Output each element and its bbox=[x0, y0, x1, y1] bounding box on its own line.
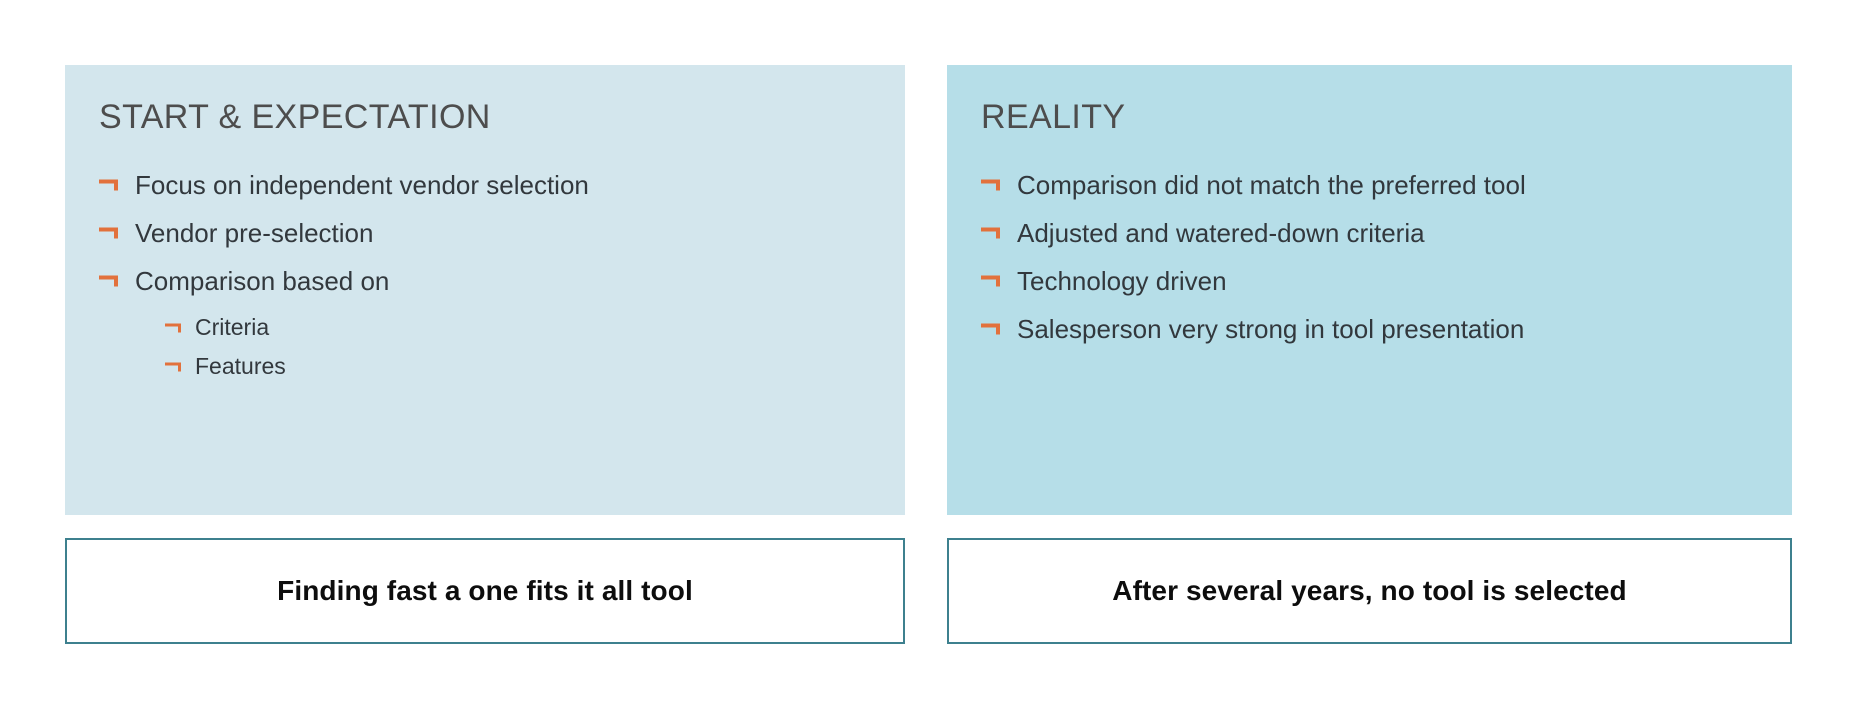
bullet-text: Technology driven bbox=[1017, 266, 1227, 296]
bullet-text: Comparison did not match the preferred t… bbox=[1017, 170, 1526, 200]
panel-title-reality: REALITY bbox=[981, 99, 1758, 136]
sub-bullet-text: Features bbox=[195, 353, 286, 379]
sub-bullet-text: Criteria bbox=[195, 314, 269, 340]
column-start-expectation: START & EXPECTATION Focus on independent… bbox=[65, 0, 905, 714]
negation-bullet-icon bbox=[981, 324, 1000, 335]
bullet-item: Vendor pre-selection bbox=[99, 220, 871, 246]
sub-bullet-item: Criteria bbox=[165, 316, 871, 339]
bullet-list-reality: Comparison did not match the preferred t… bbox=[981, 172, 1758, 342]
bullet-text: Vendor pre-selection bbox=[135, 218, 373, 248]
panel-reality: REALITY Comparison did not match the pre… bbox=[947, 65, 1792, 515]
negation-bullet-icon bbox=[165, 362, 181, 371]
bullet-text: Comparison based on bbox=[135, 266, 389, 296]
bullet-item: Comparison based on bbox=[99, 268, 871, 294]
outcome-text: After several years, no tool is selected bbox=[1112, 575, 1626, 607]
outcome-box-start-expectation: Finding fast a one fits it all tool bbox=[65, 538, 905, 644]
negation-bullet-icon bbox=[981, 180, 1000, 191]
panel-title-start-expectation: START & EXPECTATION bbox=[99, 99, 871, 136]
bullet-item: Comparison did not match the preferred t… bbox=[981, 172, 1758, 198]
outcome-text: Finding fast a one fits it all tool bbox=[277, 575, 693, 607]
bullet-list-start-expectation: Focus on independent vendor selection Ve… bbox=[99, 172, 871, 294]
negation-bullet-icon bbox=[99, 228, 118, 239]
bullet-text: Adjusted and watered-down criteria bbox=[1017, 218, 1425, 248]
panel-start-expectation: START & EXPECTATION Focus on independent… bbox=[65, 65, 905, 515]
bullet-text: Focus on independent vendor selection bbox=[135, 170, 589, 200]
outcome-box-reality: After several years, no tool is selected bbox=[947, 538, 1792, 644]
slide-canvas: START & EXPECTATION Focus on independent… bbox=[0, 0, 1858, 714]
sub-bullet-list-comparison: Criteria Features bbox=[99, 316, 871, 378]
negation-bullet-icon bbox=[99, 180, 118, 191]
negation-bullet-icon bbox=[981, 228, 1000, 239]
bullet-text: Salesperson very strong in tool presenta… bbox=[1017, 314, 1524, 344]
negation-bullet-icon bbox=[165, 323, 181, 332]
column-reality: REALITY Comparison did not match the pre… bbox=[947, 0, 1792, 714]
bullet-item: Salesperson very strong in tool presenta… bbox=[981, 316, 1758, 342]
bullet-item: Technology driven bbox=[981, 268, 1758, 294]
negation-bullet-icon bbox=[981, 276, 1000, 287]
negation-bullet-icon bbox=[99, 276, 118, 287]
bullet-item: Focus on independent vendor selection bbox=[99, 172, 871, 198]
bullet-item: Adjusted and watered-down criteria bbox=[981, 220, 1758, 246]
sub-bullet-item: Features bbox=[165, 355, 871, 378]
